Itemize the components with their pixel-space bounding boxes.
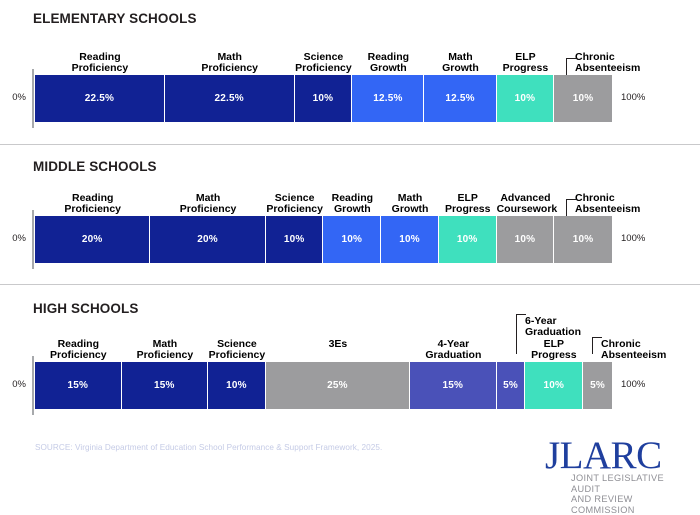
category-label: Chronic Absenteeism <box>601 339 700 362</box>
bar-value: 15% <box>154 380 175 391</box>
chart-page: ELEMENTARY SCHOOLS 0% 100% Reading Profi… <box>0 0 700 501</box>
category-labels-elementary: Reading Proficiency Math Proficiency Sci… <box>35 41 612 75</box>
bar-value: 15% <box>67 380 88 391</box>
axis-label-min-middle: 0% <box>12 233 26 244</box>
panel-title-middle: MIDDLE SCHOOLS <box>33 159 157 174</box>
category-label: 3Es <box>266 339 410 351</box>
chart-middle: 0% 100% Reading Proficiency Math Profici… <box>35 216 612 263</box>
bar-segment[interactable]: 10% <box>295 75 353 122</box>
axis-line-elementary <box>32 69 34 128</box>
axis-label-min-high: 0% <box>12 379 26 390</box>
bar-value: 20% <box>82 234 103 245</box>
stacked-bar-high: 15% 15% 10% 25% 15% 5% 10% <box>35 362 612 409</box>
category-label: Math Growth <box>424 52 496 75</box>
bar-segment[interactable]: 15% <box>35 362 122 409</box>
category-label: Reading Growth <box>352 52 424 75</box>
panel-title-elementary: ELEMENTARY SCHOOLS <box>33 11 197 26</box>
bar-value: 12.5% <box>445 93 474 104</box>
bar-segment[interactable]: 20% <box>150 216 265 263</box>
chart-elementary: 0% 100% Reading Proficiency Math Profici… <box>35 75 612 122</box>
leader-line-chronic-absenteeism <box>566 199 576 216</box>
bar-value: 5% <box>590 380 605 391</box>
bar-value: 10% <box>457 234 478 245</box>
bar-segment[interactable]: 12.5% <box>424 75 496 122</box>
source-note: SOURCE: Virginia Department of Education… <box>35 443 382 452</box>
category-label: ELP Progress <box>439 193 497 216</box>
bar-value: 25% <box>327 380 348 391</box>
bar-segment[interactable]: 25% <box>266 362 410 409</box>
bar-value: 10% <box>342 234 363 245</box>
stacked-bar-middle: 20% 20% 10% 10% 10% 10% 10% <box>35 216 612 263</box>
category-label: Chronic Absenteeism <box>575 193 675 216</box>
chart-high: 0% 100% Reading Proficiency Math Profici… <box>35 362 612 409</box>
axis-label-max-high: 100% <box>621 379 645 390</box>
leader-line-chronic-absenteeism <box>566 58 576 75</box>
bar-value: 22.5% <box>215 93 244 104</box>
bar-value: 12.5% <box>373 93 402 104</box>
category-labels-high: Reading Proficiency Math Proficiency Sci… <box>35 306 612 362</box>
bar-value: 10% <box>573 234 594 245</box>
bar-segment[interactable]: 10% <box>208 362 266 409</box>
category-label: Chronic Absenteeism <box>575 52 675 75</box>
category-label: Science Proficiency <box>266 193 324 216</box>
category-label: Advanced Coursework <box>497 193 555 216</box>
category-label: ELP Progress <box>525 339 583 362</box>
category-labels-middle: Reading Proficiency Math Proficiency Sci… <box>35 182 612 216</box>
axis-label-min-elementary: 0% <box>12 92 26 103</box>
bar-value: 10% <box>284 234 305 245</box>
bar-segment[interactable]: 10% <box>525 362 583 409</box>
jlarc-logo: JLARC JOINT LEGISLATIVE AUDIT AND REVIEW… <box>545 437 695 497</box>
bar-segment[interactable]: 10% <box>554 216 612 263</box>
bar-value: 10% <box>515 234 536 245</box>
category-label: Science Proficiency <box>208 339 266 362</box>
jlarc-logo-wordmark: JLARC <box>545 437 695 474</box>
panel-high-schools: HIGH SCHOOLS 0% 100% Reading Proficiency… <box>0 284 700 429</box>
bar-segment[interactable]: 10% <box>497 216 555 263</box>
bar-value: 22.5% <box>85 93 114 104</box>
bar-segment[interactable]: 22.5% <box>165 75 295 122</box>
axis-label-max-elementary: 100% <box>621 92 645 103</box>
bar-segment[interactable]: 15% <box>122 362 209 409</box>
category-label: 6-Year Graduation <box>525 316 625 339</box>
category-label: Reading Proficiency <box>35 339 122 362</box>
bar-value: 10% <box>573 93 594 104</box>
category-label: Math Proficiency <box>165 52 295 75</box>
bar-segment[interactable]: 10% <box>497 75 555 122</box>
stacked-bar-elementary: 22.5% 22.5% 10% 12.5% 12.5% 10% <box>35 75 612 122</box>
jlarc-logo-tagline: JOINT LEGISLATIVE AUDIT AND REVIEW COMMI… <box>571 473 695 515</box>
panel-middle-schools: MIDDLE SCHOOLS 0% 100% Reading Proficien… <box>0 145 700 285</box>
bar-segment[interactable]: 10% <box>554 75 612 122</box>
category-label: ELP Progress <box>497 52 555 75</box>
bar-segment[interactable]: 10% <box>439 216 497 263</box>
bar-value: 10% <box>313 93 334 104</box>
panel-elementary-schools: ELEMENTARY SCHOOLS 0% 100% Reading Profi… <box>0 0 700 145</box>
category-label: Math Proficiency <box>122 339 209 362</box>
bar-segment[interactable]: 15% <box>410 362 497 409</box>
category-label: Science Proficiency <box>295 52 353 75</box>
leader-line-chronic-absenteeism <box>592 337 602 354</box>
bar-segment[interactable]: 12.5% <box>352 75 424 122</box>
bar-value: 10% <box>543 380 564 391</box>
bar-value: 10% <box>226 380 247 391</box>
bar-segment[interactable]: 5% <box>583 362 612 409</box>
axis-line-high <box>32 356 34 415</box>
bar-value: 5% <box>503 380 518 391</box>
axis-label-max-middle: 100% <box>621 233 645 244</box>
category-label: Math Proficiency <box>150 193 265 216</box>
bar-segment[interactable]: 10% <box>323 216 381 263</box>
bar-value: 10% <box>515 93 536 104</box>
bar-value: 15% <box>442 380 463 391</box>
bar-segment[interactable]: 10% <box>381 216 439 263</box>
bar-segment[interactable]: 22.5% <box>35 75 165 122</box>
bar-segment[interactable]: 5% <box>497 362 526 409</box>
category-label: Reading Proficiency <box>35 193 150 216</box>
bar-value: 10% <box>399 234 420 245</box>
category-label: Reading Growth <box>324 193 382 216</box>
category-label: Math Growth <box>381 193 439 216</box>
axis-line-middle <box>32 210 34 269</box>
bar-segment[interactable]: 10% <box>266 216 324 263</box>
bar-value: 20% <box>197 234 218 245</box>
category-label: Reading Proficiency <box>35 52 165 75</box>
bar-segment[interactable]: 20% <box>35 216 150 263</box>
category-label: 4-Year Graduation <box>410 339 497 362</box>
